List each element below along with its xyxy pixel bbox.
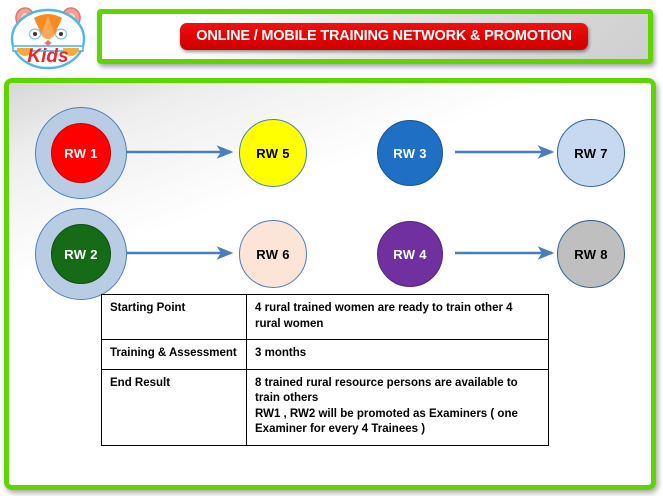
node-rw6[interactable]: RW 6 [239, 220, 307, 288]
header: Kids ONLINE / MOBILE TRAINING NETWORK & … [0, 0, 663, 76]
table-cell-label: Training & Assessment [102, 340, 247, 370]
page-title: ONLINE / MOBILE TRAINING NETWORK & PROMO… [180, 23, 587, 50]
table-row: Starting Point 4 rural trained women are… [102, 295, 549, 340]
node-rw8-label: RW 8 [574, 247, 607, 262]
node-rw2-label: RW 2 [64, 247, 97, 262]
node-rw4[interactable]: RW 4 [377, 221, 443, 287]
node-rw3-label: RW 3 [393, 146, 426, 161]
node-rw5[interactable]: RW 5 [239, 119, 307, 187]
node-rw2[interactable]: RW 2 [51, 224, 111, 284]
node-rw6-label: RW 6 [256, 247, 289, 262]
footer-text [0, 489, 663, 496]
title-bar: ONLINE / MOBILE TRAINING NETWORK & PROMO… [97, 9, 653, 64]
table-cell-label: End Result [102, 369, 247, 445]
node-rw7-label: RW 7 [574, 146, 607, 161]
node-rw5-label: RW 5 [256, 146, 289, 161]
info-table: Starting Point 4 rural trained women are… [101, 294, 549, 446]
table-cell-label: Starting Point [102, 295, 247, 340]
node-rw1-label: RW 1 [64, 146, 97, 161]
table-cell-value: 4 rural trained women are ready to train… [247, 295, 549, 340]
logo-text: Kids [27, 46, 68, 67]
table-cell-value: 3 months [247, 340, 549, 370]
kids-logo: Kids [4, 2, 92, 72]
table-cell-value: 8 trained rural resource persons are ava… [247, 369, 549, 445]
hamster-face-logo: Kids [4, 2, 92, 72]
node-rw1[interactable]: RW 1 [51, 123, 111, 183]
node-rw8[interactable]: RW 8 [557, 220, 625, 288]
node-rw3[interactable]: RW 3 [377, 120, 443, 186]
node-rw7[interactable]: RW 7 [557, 119, 625, 187]
node-rw4-label: RW 4 [393, 247, 426, 262]
table-row: End Result 8 trained rural resource pers… [102, 369, 549, 445]
table-row: Training & Assessment 3 months [102, 340, 549, 370]
